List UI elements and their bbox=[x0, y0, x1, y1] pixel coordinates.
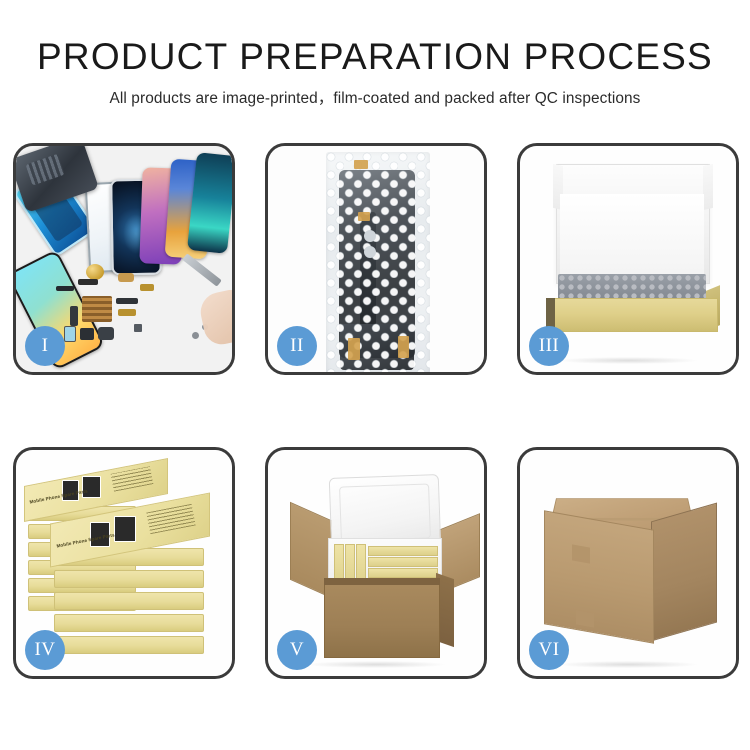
step-badge-5: V bbox=[277, 630, 317, 670]
packed-box bbox=[368, 568, 438, 578]
stacked-box bbox=[54, 570, 204, 588]
carton-right-face bbox=[651, 503, 717, 642]
process-step-6[interactable]: VI bbox=[517, 447, 739, 679]
tape-strip bbox=[348, 338, 360, 360]
spare-part bbox=[134, 324, 142, 332]
carton-front bbox=[324, 582, 440, 658]
tape-strip bbox=[354, 160, 368, 169]
lid-window bbox=[114, 516, 136, 542]
connector bbox=[364, 230, 376, 242]
camera-lens-part bbox=[86, 264, 104, 280]
bubble-texture bbox=[326, 152, 430, 372]
process-step-4[interactable]: Mobile Phone Spare Parts Mobile Phone Sp… bbox=[13, 447, 235, 679]
foam-sheet bbox=[560, 194, 704, 274]
spare-part bbox=[80, 328, 94, 340]
page-header: PRODUCT PREPARATION PROCESS All products… bbox=[0, 0, 750, 108]
spare-part bbox=[118, 273, 134, 282]
hand bbox=[197, 288, 232, 347]
drop-shadow bbox=[559, 661, 697, 668]
spare-part bbox=[64, 326, 76, 342]
stacked-box bbox=[54, 636, 204, 654]
page-title: PRODUCT PREPARATION PROCESS bbox=[0, 36, 750, 77]
step-badge-1: I bbox=[25, 326, 65, 366]
step-badge-2: II bbox=[277, 326, 317, 366]
process-step-5[interactable]: V bbox=[265, 447, 487, 679]
tape-patch bbox=[572, 544, 590, 563]
spare-part bbox=[70, 306, 78, 326]
spare-part bbox=[98, 327, 114, 340]
drop-shadow bbox=[307, 661, 445, 668]
spare-part bbox=[56, 286, 74, 291]
process-step-2[interactable]: II bbox=[265, 143, 487, 375]
step-badge-4: IV bbox=[25, 630, 65, 670]
screw-tray bbox=[82, 296, 112, 322]
bubble-wrap-bag bbox=[326, 152, 430, 372]
process-step-3[interactable]: III bbox=[517, 143, 739, 375]
packed-box bbox=[368, 546, 438, 556]
drop-shadow bbox=[559, 357, 697, 364]
stacked-box bbox=[54, 592, 204, 610]
stacked-box bbox=[54, 614, 204, 632]
spare-part bbox=[118, 309, 136, 316]
packed-box bbox=[368, 557, 438, 567]
process-step-grid: I II I bbox=[13, 143, 739, 680]
tape-patch bbox=[576, 610, 594, 627]
lid-window bbox=[82, 476, 101, 498]
flex-cable-part bbox=[116, 298, 138, 304]
connector bbox=[364, 246, 376, 258]
carton-front-face bbox=[544, 510, 654, 643]
spare-part bbox=[78, 279, 98, 285]
page-subtitle: All products are image-printed，film-coat… bbox=[0, 86, 750, 108]
box-front-panel bbox=[546, 298, 718, 332]
screw bbox=[192, 332, 199, 339]
step-badge-6: VI bbox=[529, 630, 569, 670]
spare-part bbox=[140, 284, 154, 291]
tape-strip bbox=[358, 212, 370, 221]
process-step-1[interactable]: I bbox=[13, 143, 235, 375]
tape-strip bbox=[398, 336, 409, 358]
step-badge-3: III bbox=[529, 326, 569, 366]
